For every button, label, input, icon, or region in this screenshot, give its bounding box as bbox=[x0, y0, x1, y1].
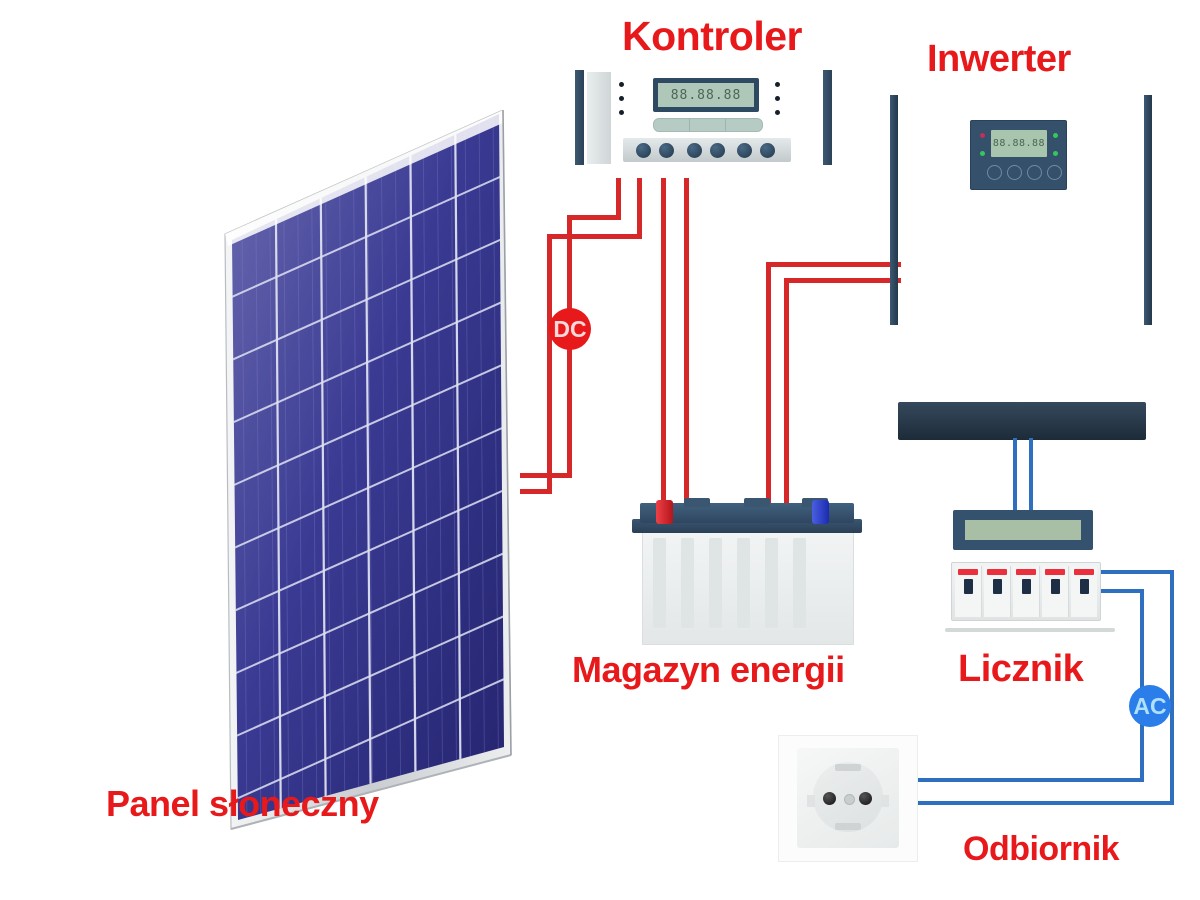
breaker-panel[interactable] bbox=[951, 562, 1101, 621]
inverter-led-ac bbox=[1053, 133, 1058, 138]
meter-base-shelf bbox=[945, 628, 1115, 632]
controller-terminal-2[interactable] bbox=[659, 143, 674, 158]
battery-vent-2 bbox=[744, 498, 770, 507]
charge-controller[interactable]: 88.88.88 bbox=[575, 70, 835, 180]
inverter-control-panel[interactable]: 88.88.88 bbox=[970, 120, 1067, 190]
battery-body bbox=[642, 521, 854, 645]
label-inverter: Inwerter bbox=[927, 40, 1071, 78]
socket-pin-hole-left bbox=[823, 792, 836, 805]
controller-terminal-4[interactable] bbox=[710, 143, 725, 158]
wire-meter-to-load-inner-h2 bbox=[916, 778, 1144, 782]
wire-controller-to-battery-b bbox=[684, 178, 689, 506]
electricity-meter[interactable] bbox=[945, 510, 1120, 645]
breaker-2[interactable] bbox=[984, 566, 1011, 617]
battery-vent-1 bbox=[684, 498, 710, 507]
breaker-3[interactable] bbox=[1013, 566, 1040, 617]
inverter[interactable]: 88.88.88 bbox=[890, 95, 1155, 335]
inverter-led-fault bbox=[980, 133, 985, 138]
wire-battery-to-inverter-b-h bbox=[784, 278, 901, 283]
battery-cell-2 bbox=[681, 538, 694, 628]
wire-meter-to-load-outer-v bbox=[1170, 570, 1174, 805]
battery-cell-6 bbox=[793, 538, 806, 628]
wire-panel-to-controller-a-h1 bbox=[520, 473, 572, 478]
label-load: Odbiornik bbox=[963, 832, 1119, 866]
socket-recess bbox=[813, 762, 883, 832]
label-battery: Magazyn energii bbox=[572, 652, 845, 688]
wire-panel-to-controller-b-v2 bbox=[637, 178, 642, 238]
wire-battery-to-inverter-a-v bbox=[766, 262, 771, 508]
controller-rail-right bbox=[823, 70, 832, 165]
meter-display bbox=[965, 520, 1081, 540]
controller-indicator-dots-left bbox=[619, 82, 626, 124]
wire-inverter-to-meter-a bbox=[1013, 438, 1017, 514]
controller-display-bezel: 88.88.88 bbox=[653, 78, 759, 112]
meter-display-housing bbox=[953, 510, 1093, 550]
wire-panel-to-controller-b-v bbox=[547, 234, 552, 494]
diagram-canvas: DC 88.88.88 bbox=[0, 0, 1200, 900]
solar-panel-graphic bbox=[205, 110, 555, 830]
socket-tab-right bbox=[881, 795, 889, 807]
inverter-button-3[interactable] bbox=[1027, 165, 1042, 180]
dc-badge-label: DC bbox=[553, 316, 586, 343]
controller-terminal-6[interactable] bbox=[760, 143, 775, 158]
socket-plate bbox=[797, 748, 899, 848]
breaker-1[interactable] bbox=[955, 566, 982, 617]
inverter-button-row[interactable] bbox=[987, 165, 1062, 180]
battery-cell-1 bbox=[653, 538, 666, 628]
dc-badge: DC bbox=[549, 308, 591, 350]
inverter-button-2[interactable] bbox=[1007, 165, 1022, 180]
ac-badge: AC bbox=[1129, 685, 1171, 727]
socket-tab-left bbox=[807, 795, 815, 807]
battery-terminal-positive[interactable] bbox=[656, 500, 673, 524]
battery-cell-4 bbox=[737, 538, 750, 628]
battery-terminal-negative[interactable] bbox=[812, 500, 829, 524]
controller-terminal-5[interactable] bbox=[737, 143, 752, 158]
controller-terminal-3[interactable] bbox=[687, 143, 702, 158]
inverter-rail-right bbox=[1144, 95, 1152, 325]
wire-meter-to-load-outer-h2 bbox=[916, 801, 1174, 805]
breaker-5[interactable] bbox=[1071, 566, 1097, 617]
battery-cell-3 bbox=[709, 538, 722, 628]
inverter-rail-left bbox=[890, 95, 898, 325]
controller-side-box bbox=[587, 72, 611, 164]
battery-bank[interactable] bbox=[632, 495, 862, 645]
battery-cell-5 bbox=[765, 538, 778, 628]
controller-terminal-1[interactable] bbox=[636, 143, 651, 158]
wire-panel-to-controller-b-h2 bbox=[547, 234, 642, 239]
controller-indicator-dots-right bbox=[775, 82, 782, 124]
wire-battery-to-inverter-b-v bbox=[784, 278, 789, 508]
controller-rail-left bbox=[575, 70, 584, 165]
socket-earth-clip-bottom bbox=[835, 823, 861, 830]
socket-earth-clip-top bbox=[835, 764, 861, 771]
solar-panel[interactable] bbox=[205, 110, 555, 830]
label-meter: Licznik bbox=[958, 650, 1083, 688]
socket-center-screw bbox=[844, 794, 855, 805]
inverter-base-bar bbox=[898, 402, 1146, 440]
wire-panel-to-controller-a-v2 bbox=[616, 178, 621, 220]
ac-badge-label: AC bbox=[1133, 693, 1166, 720]
inverter-led-run bbox=[980, 151, 985, 156]
wire-panel-to-controller-a-h2 bbox=[567, 215, 621, 220]
wire-battery-to-inverter-a-h bbox=[766, 262, 901, 267]
controller-terminal-block[interactable] bbox=[623, 138, 791, 162]
inverter-led-dc bbox=[1053, 151, 1058, 156]
socket-pin-hole-right bbox=[859, 792, 872, 805]
controller-display: 88.88.88 bbox=[658, 83, 754, 107]
wall-socket[interactable] bbox=[778, 735, 918, 862]
inverter-display: 88.88.88 bbox=[991, 130, 1047, 157]
breaker-4[interactable] bbox=[1042, 566, 1069, 617]
inverter-button-4[interactable] bbox=[1047, 165, 1062, 180]
label-controller: Kontroler bbox=[622, 16, 802, 57]
controller-button-strip[interactable] bbox=[653, 118, 763, 132]
wire-controller-to-battery-a bbox=[661, 178, 666, 506]
label-panel: Panel słoneczny bbox=[106, 786, 379, 822]
wire-inverter-to-meter-b bbox=[1029, 438, 1033, 514]
inverter-button-1[interactable] bbox=[987, 165, 1002, 180]
